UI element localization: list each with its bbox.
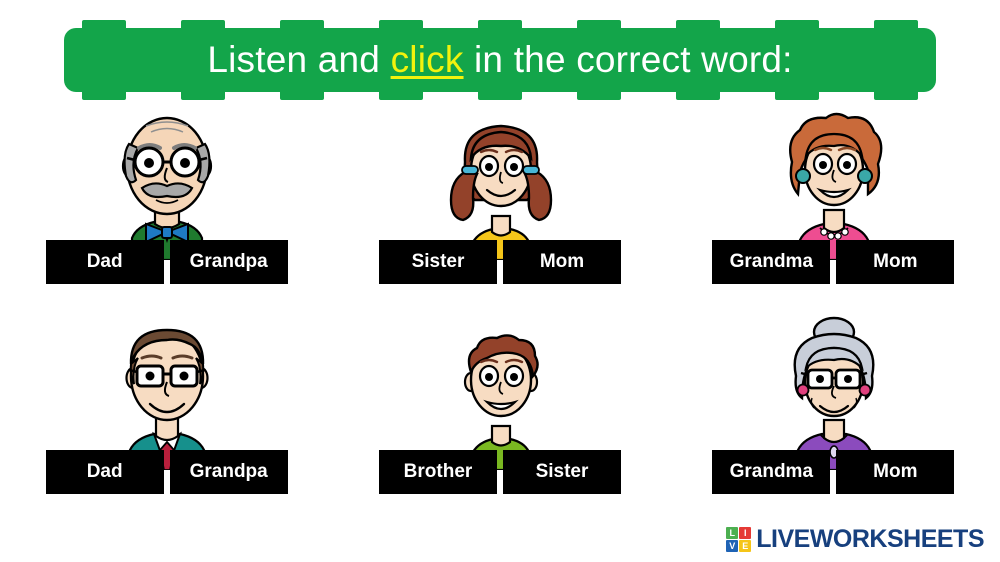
instruction-text-after: in the correct word: — [464, 39, 793, 80]
character-illustration-grandpa — [82, 100, 252, 260]
answer-button[interactable]: Grandpa — [170, 240, 288, 284]
logo-tile-v: V — [726, 540, 738, 552]
answer-button[interactable]: Grandpa — [170, 450, 288, 494]
answer-options: Sister Mom — [379, 240, 621, 284]
answer-options: Grandma Mom — [712, 240, 954, 284]
logo-tile-i: I — [739, 527, 751, 539]
answer-button[interactable]: Sister — [379, 240, 497, 284]
answer-options: Dad Grandpa — [46, 240, 288, 284]
answer-options: Dad Grandpa — [46, 450, 288, 494]
exercise-item: Brother Sister — [333, 310, 666, 520]
exercise-row: Dad Grandpa — [0, 100, 1000, 310]
exercise-item: Sister Mom — [333, 100, 666, 310]
character-illustration-sister — [415, 100, 585, 260]
answer-button[interactable]: Grandma — [712, 240, 830, 284]
answer-button[interactable]: Brother — [379, 450, 497, 494]
logo-tile-e: E — [739, 540, 751, 552]
exercise-item: Grandma Mom — [667, 310, 1000, 520]
answer-button[interactable]: Mom — [836, 450, 954, 494]
answer-button[interactable]: Grandma — [712, 450, 830, 494]
answer-button[interactable]: Sister — [503, 450, 621, 494]
answer-button[interactable]: Dad — [46, 450, 164, 494]
character-illustration-brother — [415, 310, 585, 470]
logo-tiles-icon: L I V E — [726, 527, 751, 552]
answer-button[interactable]: Dad — [46, 240, 164, 284]
exercise-grid: Dad Grandpa — [0, 100, 1000, 520]
exercise-item: Dad Grandpa — [0, 310, 333, 520]
exercise-item: Grandma Mom — [667, 100, 1000, 310]
liveworksheets-logo[interactable]: L I V E LIVEWORKSHEETS — [726, 525, 984, 554]
exercise-row: Dad Grandpa — [0, 310, 1000, 520]
exercise-item: Dad Grandpa — [0, 100, 333, 310]
character-illustration-grandma — [748, 310, 918, 470]
logo-tile-l: L — [726, 527, 738, 539]
logo-wordmark: LIVEWORKSHEETS — [756, 525, 984, 554]
answer-button[interactable]: Mom — [503, 240, 621, 284]
character-illustration-mom — [748, 100, 918, 260]
instruction-text: Listen and click in the correct word: — [207, 39, 792, 81]
instruction-text-before: Listen and — [207, 39, 390, 80]
answer-button[interactable]: Mom — [836, 240, 954, 284]
character-illustration-dad — [82, 310, 252, 470]
instruction-highlight-word: click — [391, 39, 464, 80]
answer-options: Grandma Mom — [712, 450, 954, 494]
instruction-banner: Listen and click in the correct word: — [64, 28, 936, 92]
header-banner: Listen and click in the correct word: — [64, 28, 936, 92]
answer-options: Brother Sister — [379, 450, 621, 494]
